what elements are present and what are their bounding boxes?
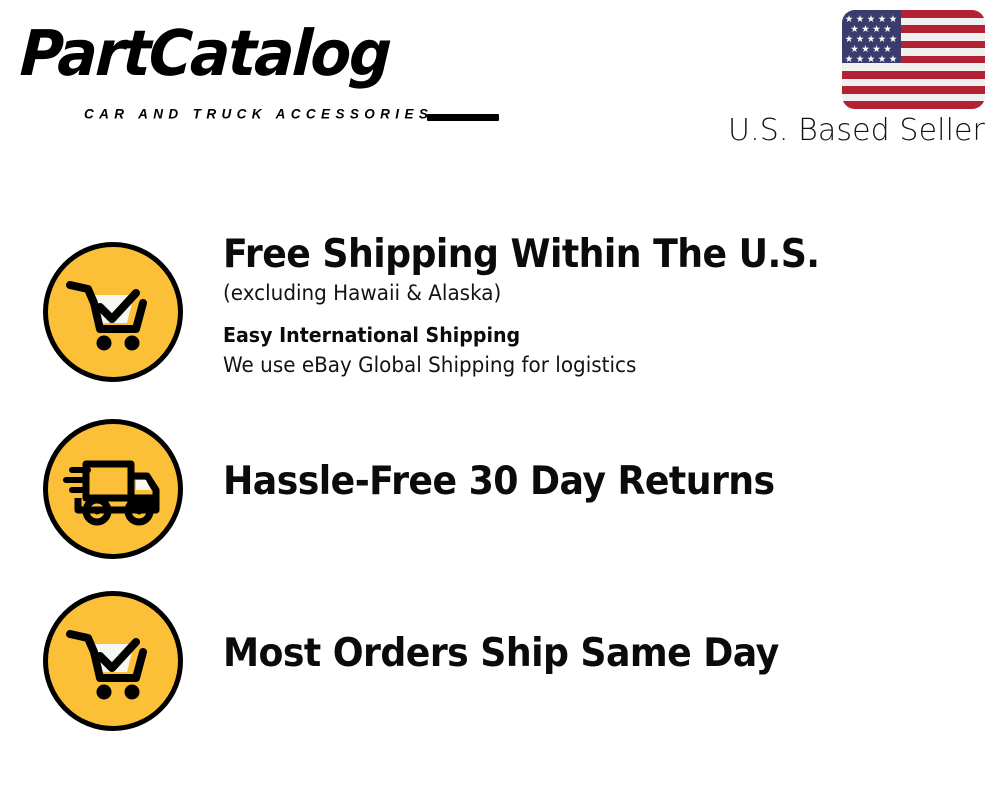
feature-note: (excluding Hawaii & Alaska)	[223, 278, 888, 309]
brand-logo[interactable]: PartCatalog CAR AND TRUCK ACCESSORIES	[22, 18, 492, 118]
brand-underline-accent	[427, 114, 499, 121]
feature-title: Hassle-Free 30 Day Returns	[223, 459, 874, 505]
feature-text-block: Hassle-Free 30 Day Returns	[223, 459, 923, 505]
shopping-cart-check-icon	[43, 242, 183, 382]
us-flag-icon: ★ ★ ★ ★ ★ ★ ★ ★ ★ ★ ★ ★ ★ ★ ★ ★ ★ ★ ★ ★	[842, 10, 985, 109]
feature-subtext: We use eBay Global Shipping for logistic…	[223, 350, 888, 380]
feature-text-block: Free Shipping Within The U.S. (excluding…	[223, 232, 923, 380]
brand-wordmark: PartCatalog	[18, 18, 391, 90]
feature-row: Most Orders Ship Same Day	[0, 591, 1000, 741]
us-based-seller-badge: ★ ★ ★ ★ ★ ★ ★ ★ ★ ★ ★ ★ ★ ★ ★ ★ ★ ★ ★ ★	[695, 10, 985, 149]
feature-row: Free Shipping Within The U.S. (excluding…	[0, 230, 1000, 400]
feature-text-block: Most Orders Ship Same Day	[223, 631, 923, 677]
flag-canton: ★ ★ ★ ★ ★ ★ ★ ★ ★ ★ ★ ★ ★ ★ ★ ★ ★ ★ ★ ★	[842, 10, 901, 63]
feature-row: Hassle-Free 30 Day Returns	[0, 419, 1000, 569]
feature-subtitle: Easy International Shipping	[223, 320, 888, 350]
page-header: PartCatalog CAR AND TRUCK ACCESSORIES ★ …	[0, 0, 1000, 170]
feature-title: Most Orders Ship Same Day	[223, 631, 874, 677]
feature-title: Free Shipping Within The U.S.	[223, 232, 874, 278]
brand-tagline: CAR AND TRUCK ACCESSORIES	[84, 106, 433, 123]
us-based-seller-label: U.S. Based Seller	[695, 113, 985, 149]
delivery-truck-icon	[43, 419, 183, 559]
shopping-cart-check-icon	[43, 591, 183, 731]
